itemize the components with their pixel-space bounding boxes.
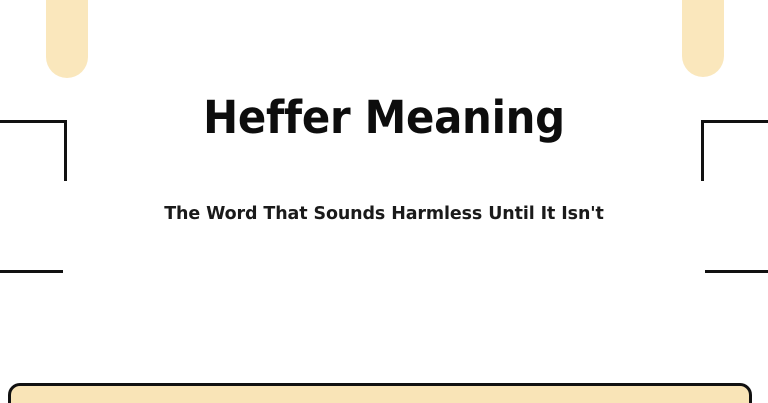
infographic-canvas: Heffer Meaning The Word That Sounds Harm… [0,0,768,403]
headline-block: Heffer Meaning The Word That Sounds Harm… [0,92,768,144]
page-title: Heffer Meaning [27,92,741,144]
callout-card [8,383,752,403]
right-pill-bar [682,0,724,77]
bottom-right-rule [705,270,768,273]
page-subtitle: The Word That Sounds Harmless Until It I… [12,202,757,226]
left-pill-bar [46,0,88,78]
bottom-left-rule [0,270,63,273]
